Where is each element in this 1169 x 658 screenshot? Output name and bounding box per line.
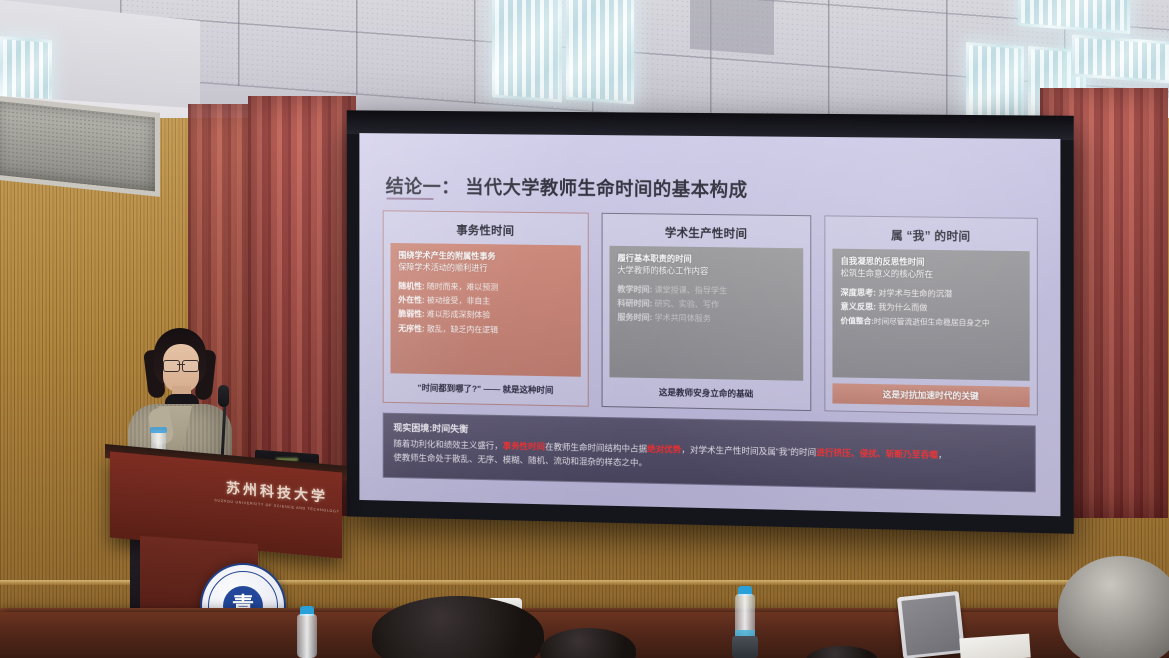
slide-columns: 事务性时间 围绕学术产生的附属性事务 保障学术活动的顺利进行 随机性: 随时而来… — [383, 210, 1038, 415]
column-content-box: 自我凝思的反思性时间 松筑生命意义的核心所在 深度思考: 对学术与生命的沉潜 意… — [832, 249, 1029, 381]
banner-text: 随着功利化和绩效主义盛行， — [393, 439, 502, 451]
column-lead: 自我凝思的反思性时间 松筑生命意义的核心所在 — [841, 255, 1022, 282]
row-label: 教学时间: — [617, 285, 652, 294]
audience-laptop — [897, 591, 965, 658]
row-text: 散乱，缺乏内在逻辑 — [427, 324, 498, 334]
column-lead: 履行基本职责的时间 大学教师的核心工作内容 — [617, 252, 795, 278]
column-row: 服务时间: 学术共同体服务 — [617, 311, 795, 328]
column-footer: 这是教师安身立命的基础 — [610, 383, 804, 403]
wall-vent-grille — [0, 95, 160, 197]
column-title: 属 “我” 的时间 — [832, 227, 1029, 246]
slide-title: 结论一： 当代大学教师生命时间的基本构成 — [386, 173, 748, 203]
column-row: 无序性: 散乱，缺乏内在逻辑 — [398, 322, 573, 339]
banner-text: 在教师生命时间结构中占据 — [545, 442, 647, 454]
lecture-hall-photo: 结论一： 当代大学教师生命时间的基本构成 事务性时间 围绕学术产生的附属性事务 … — [0, 0, 1169, 658]
column-row-list: 随机性: 随时而来，难以预测 外在性: 被动接受，非自主 脆弱性: 难以形成深刻… — [398, 280, 573, 339]
column-content-box: 履行基本职责的时间 大学教师的核心工作内容 教学时间: 课堂授课、指导学生 科研… — [610, 246, 804, 381]
row-label: 脆弱性: — [398, 310, 424, 319]
audience-laptop-screen — [901, 595, 960, 655]
presentation-slide: 结论一： 当代大学教师生命时间的基本构成 事务性时间 围绕学术产生的附属性事务 … — [359, 133, 1060, 516]
row-text: 课堂授课、指导学生 — [655, 285, 728, 295]
slide-column-academic-productive-time: 学术生产性时间 履行基本职责的时间 大学教师的核心工作内容 教学时间: 课堂授课… — [602, 213, 812, 411]
water-bottle — [297, 614, 317, 658]
ceiling-vent — [690, 0, 774, 55]
eyeglasses-bridge — [177, 364, 185, 365]
ceiling-light-panel — [492, 0, 562, 103]
row-label: 服务时间: — [617, 313, 652, 323]
column-row: 价值整合:时间尽管流逝但生命稳居自身之中 — [841, 314, 1022, 330]
audience-device — [732, 636, 758, 658]
column-title: 事务性时间 — [390, 221, 580, 239]
ceiling-light-panel — [1072, 34, 1169, 83]
row-text: 被动接受，非自主 — [427, 296, 490, 306]
banner-text: ，对学术生产性时间及属“我”的时间 — [681, 445, 816, 458]
water-glass-cap — [150, 427, 167, 433]
slide-column-administrative-time: 事务性时间 围绕学术产生的附属性事务 保障学术活动的顺利进行 随机性: 随时而来… — [383, 210, 589, 406]
row-label: 价值整合: — [841, 316, 874, 326]
row-label: 外在性: — [398, 296, 424, 305]
column-row-list: 教学时间: 课堂授课、指导学生 科研时间: 研究、实验、写作 服务时间: 学术共… — [617, 283, 795, 328]
column-lead: 围绕学术产生的附属性事务 保障学术活动的顺利进行 — [398, 249, 573, 275]
row-label: 深度思考: — [841, 288, 876, 298]
ceiling-light-panel — [566, 0, 634, 104]
row-text: 对学术与生命的沉潜 — [878, 289, 952, 299]
slide-column-my-time: 属 “我” 的时间 自我凝思的反思性时间 松筑生命意义的核心所在 深度思考: 对… — [824, 215, 1037, 415]
column-row-list: 深度思考: 对学术与生命的沉潜 意义反思: 我为什么而做 价值整合:时间尽管流逝… — [841, 286, 1022, 331]
microphone-head — [218, 385, 229, 407]
column-lead-sub: 松筑生命意义的核心所在 — [841, 267, 1022, 282]
row-label: 意义反思: — [841, 302, 876, 312]
banner-text: ， — [938, 450, 947, 460]
row-text: 难以形成深刻体验 — [427, 310, 490, 320]
column-title: 学术生产性时间 — [610, 224, 804, 242]
banner-highlight: 事务性时间 — [503, 441, 545, 452]
banner-highlight: 绝对优势 — [647, 444, 681, 455]
row-label: 科研时间: — [617, 299, 652, 309]
slide-banner: 现实困境:时间失衡 随着功利化和绩效主义盛行，事务性时间在教师生命时间结构中占据… — [383, 413, 1036, 493]
row-label: 随机性: — [398, 282, 424, 291]
column-content-box: 围绕学术产生的附属性事务 保障学术活动的顺利进行 随机性: 随时而来，难以预测 … — [390, 243, 580, 377]
audience-papers — [959, 634, 1031, 658]
row-text: 我为什么而做 — [878, 303, 927, 313]
column-footer: "时间都到哪了?" —— 就是这种时间 — [390, 379, 580, 398]
title-underline — [387, 197, 434, 199]
row-text: 随时而来，难以预测 — [427, 282, 498, 292]
projection-screen-frame: 结论一： 当代大学教师生命时间的基本构成 事务性时间 围绕学术产生的附属性事务 … — [347, 110, 1074, 534]
column-footer: 这是对抗加速时代的关键 — [832, 383, 1029, 407]
row-label: 无序性: — [398, 324, 424, 333]
row-text: 学术共同体服务 — [655, 314, 711, 324]
column-lead-sub: 保障学术活动的顺利进行 — [398, 261, 573, 275]
row-text: 时间尽管流逝但生命稳居自身之中 — [874, 317, 990, 328]
banner-highlight: 进行挤压、侵扰、斩断乃至吞噬 — [816, 447, 938, 460]
column-lead-sub: 大学教师的核心工作内容 — [617, 264, 795, 278]
row-text: 研究、实验、写作 — [655, 299, 720, 309]
